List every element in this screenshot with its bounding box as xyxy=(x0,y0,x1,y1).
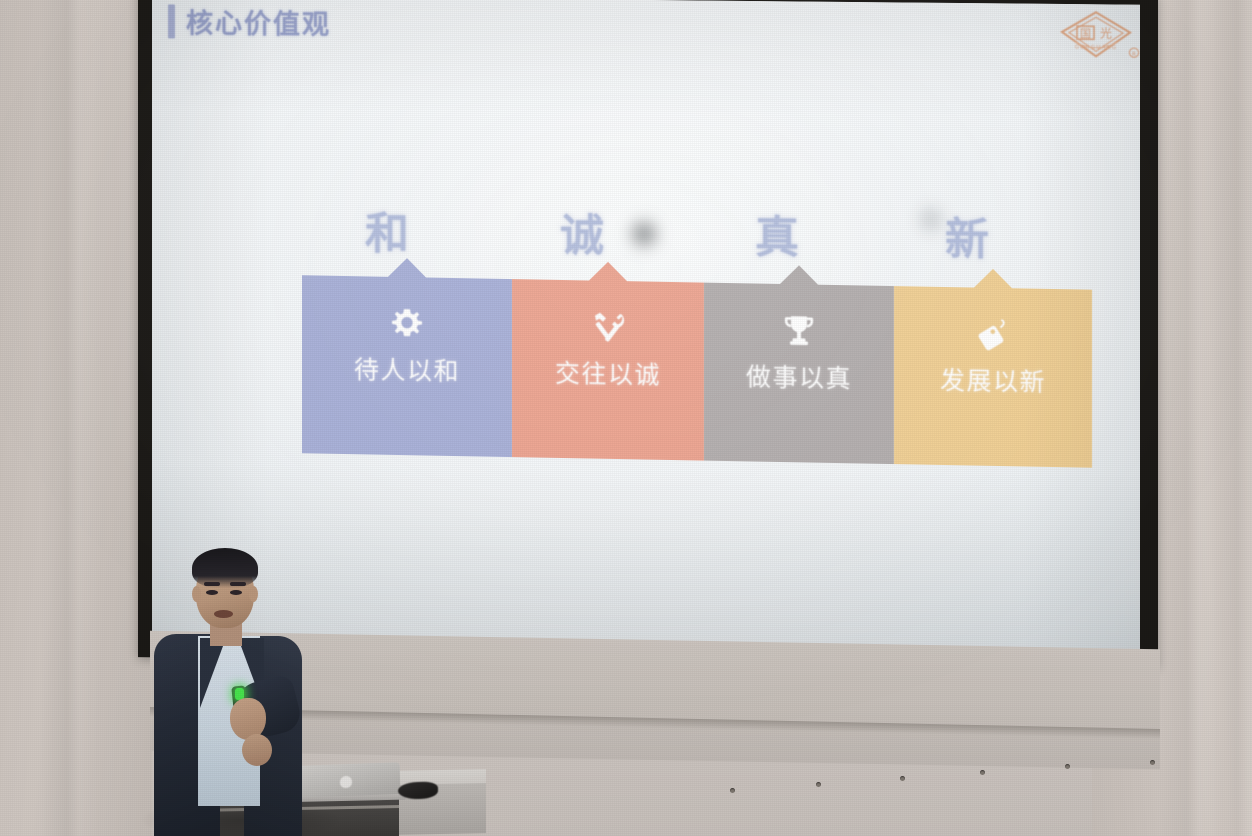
hammer-wrench-icon xyxy=(588,306,628,347)
guoguang-logo: 国 光 GUOGUANG R xyxy=(1044,6,1140,69)
screen-artifact-light xyxy=(914,203,948,237)
slide-title-group: 核心价值观 xyxy=(168,1,331,42)
headline-char-3: 真 xyxy=(755,201,799,265)
presenter-brow-right xyxy=(230,582,246,586)
value-block-2[interactable]: 交往以诚 xyxy=(512,279,704,461)
screen-grommet xyxy=(816,782,821,787)
svg-text:GUOGUANG: GUOGUANG xyxy=(1075,45,1118,51)
curtain-fold xyxy=(1210,0,1252,836)
value-block-label: 交往以诚 xyxy=(512,353,704,393)
value-block-notch xyxy=(780,265,818,285)
apple-logo-icon xyxy=(340,776,352,788)
presenter-brow-left xyxy=(204,582,220,586)
svg-text:R: R xyxy=(1132,52,1136,58)
value-block-1[interactable]: 待人以和 xyxy=(302,275,512,457)
screen-grommet xyxy=(730,788,735,793)
trophy-icon xyxy=(779,310,819,351)
presenter-eye-left xyxy=(206,590,218,595)
screenshot-stage: 核心价值观 国 光 GUOGUANG xyxy=(0,0,1252,836)
screen-grommet xyxy=(1065,764,1070,769)
gear-icon xyxy=(387,303,427,344)
headline-char-4: 新 xyxy=(945,203,989,267)
value-block-3[interactable]: 做事以真 xyxy=(704,283,894,464)
screen-artifact-dark xyxy=(626,216,662,252)
value-block-notch xyxy=(974,269,1012,289)
jacket-lapel-left xyxy=(200,638,226,708)
tag-icon xyxy=(973,314,1013,355)
svg-text:光: 光 xyxy=(1100,26,1112,40)
presenter-ear-right xyxy=(249,586,258,602)
title-accent-bar xyxy=(168,4,175,38)
presenter-mouth xyxy=(214,610,233,618)
presenter-hair xyxy=(192,548,258,588)
presenter-figure xyxy=(150,548,330,836)
presenter-hand-lower xyxy=(242,734,272,766)
value-block-label: 待人以和 xyxy=(302,349,512,389)
headline-char-2: 诚 xyxy=(560,199,604,263)
screen-grommet xyxy=(900,776,905,781)
svg-text:国: 国 xyxy=(1080,27,1091,40)
value-block-4[interactable]: 发展以新 xyxy=(894,286,1092,468)
headline-char-1: 和 xyxy=(365,197,409,261)
curtain-fold xyxy=(40,0,100,836)
presenter-ear-left xyxy=(192,586,201,602)
value-block-notch xyxy=(589,261,627,281)
value-block-notch xyxy=(388,258,426,278)
value-blocks: 待人以和 xyxy=(302,275,1092,479)
value-block-label: 做事以真 xyxy=(704,357,894,396)
screen-grommet xyxy=(1150,760,1155,765)
value-block-label: 发展以新 xyxy=(894,360,1092,400)
page-title: 核心价值观 xyxy=(186,2,331,42)
presenter-eye-right xyxy=(230,590,242,595)
screen-grommet xyxy=(980,770,985,775)
